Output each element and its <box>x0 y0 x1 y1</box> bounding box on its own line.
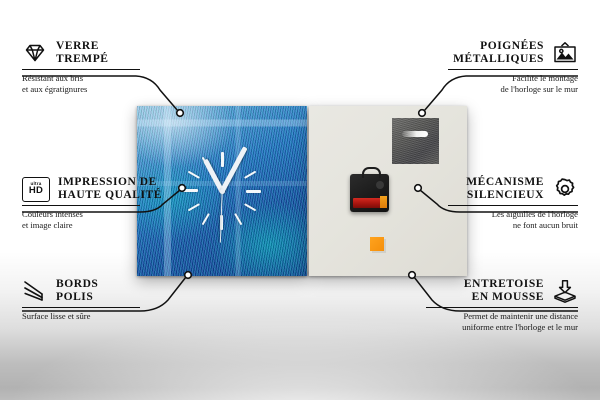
foam-spacer <box>370 237 384 251</box>
feature-title: POIGNÉES MÉTALLIQUES <box>453 40 544 66</box>
feature-title: VERRE TREMPÉ <box>56 40 109 66</box>
dial-tick <box>202 157 243 226</box>
quartz-movement <box>350 174 389 212</box>
metal-hanger-plate <box>392 118 439 164</box>
feature-rule <box>22 205 140 206</box>
feature-head: ultra HD IMPRESSION DE HAUTE QUALITÉ <box>22 176 174 202</box>
feature-rule <box>22 69 140 70</box>
ultra-hd-icon: ultra HD <box>22 177 50 202</box>
dial-tick <box>202 157 243 226</box>
dial-tick <box>188 171 257 212</box>
feature-subtitle: Facilite le montage de l'horloge sur le … <box>413 73 578 94</box>
dial-tick <box>188 171 257 212</box>
hanging-frame-icon <box>552 41 578 65</box>
feature-head: POIGNÉES MÉTALLIQUES <box>413 40 578 66</box>
clock-hour-hand <box>203 158 225 194</box>
feature-subtitle: Résistant aux bris et aux égratignures <box>22 73 174 94</box>
clock-minute-hand <box>219 146 248 194</box>
feature-entretoise-en-mousse[interactable]: ENTRETOISE EN MOUSSE Permet de maintenir… <box>388 278 578 332</box>
foam-spacer-icon <box>552 279 578 303</box>
gear-icon <box>552 177 578 201</box>
movement-knob <box>376 181 384 189</box>
dial-tick <box>202 157 243 226</box>
dial-tick <box>188 171 257 212</box>
clock-second-hand <box>219 189 222 243</box>
dial-tick <box>188 171 257 212</box>
ultra-hd-large-text: HD <box>29 186 43 196</box>
feature-impression-haute-qualite[interactable]: ultra HD IMPRESSION DE HAUTE QUALITÉ Cou… <box>22 176 174 230</box>
feature-head: MÉCANISME SILENCIEUX <box>413 176 578 202</box>
dial-tick <box>221 152 223 230</box>
feature-poignees-metalliques[interactable]: POIGNÉES MÉTALLIQUES Facilite le montage… <box>413 40 578 94</box>
polished-edges-icon <box>22 279 48 303</box>
feature-head: ENTRETOISE EN MOUSSE <box>388 278 578 304</box>
feature-subtitle: Les aiguilles de l'horloge ne font aucun… <box>413 209 578 230</box>
feature-rule <box>426 307 578 308</box>
feature-title: MÉCANISME SILENCIEUX <box>466 176 544 202</box>
dial-tick <box>221 152 223 230</box>
feature-head: BORDS POLIS <box>22 278 174 304</box>
feature-title: BORDS POLIS <box>56 278 98 304</box>
dial-tick <box>183 190 261 192</box>
feature-rule <box>448 69 578 70</box>
feature-head: VERRE TREMPÉ <box>22 40 174 66</box>
feature-subtitle: Permet de maintenir une distance uniform… <box>388 311 578 332</box>
dial-tick <box>202 157 243 226</box>
feature-bords-polis[interactable]: BORDS POLIS Surface lisse et sûre <box>22 278 174 322</box>
movement-hanger-loop <box>362 167 381 178</box>
dial-tick <box>183 190 261 192</box>
clock-center-cap <box>220 189 225 194</box>
feature-rule <box>448 205 578 206</box>
feature-title: ENTRETOISE EN MOUSSE <box>464 278 544 304</box>
feature-subtitle: Surface lisse et sûre <box>22 311 174 322</box>
feature-rule <box>22 307 140 308</box>
feature-title: IMPRESSION DE HAUTE QUALITÉ <box>58 176 162 202</box>
battery <box>353 198 386 208</box>
diamond-icon <box>22 41 48 65</box>
feature-verre-trempe[interactable]: VERRE TREMPÉ Résistant aux bris et aux é… <box>22 40 174 94</box>
feature-subtitle: Couleurs intenses et image claire <box>22 209 174 230</box>
feature-mecanisme-silencieux[interactable]: MÉCANISME SILENCIEUX Les aiguilles de l'… <box>413 176 578 230</box>
infographic-canvas: VERRE TREMPÉ Résistant aux bris et aux é… <box>0 0 600 400</box>
